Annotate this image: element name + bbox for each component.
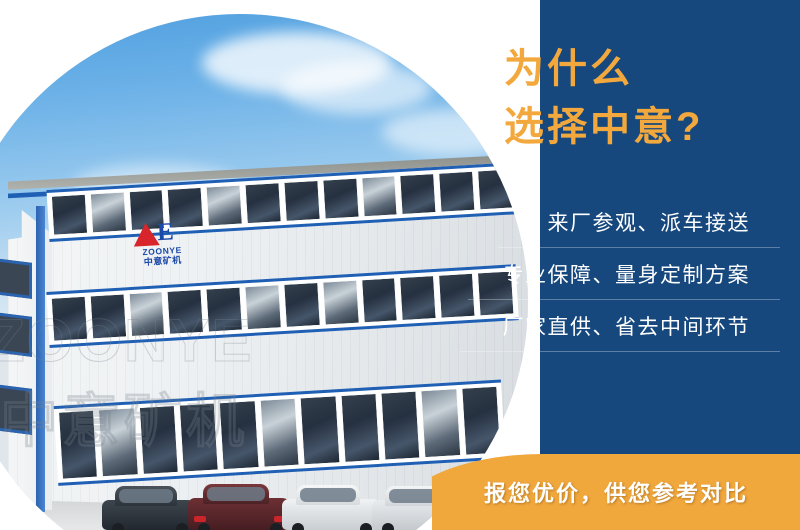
- headline-line-2: 选择中意?: [504, 98, 784, 156]
- building-corner-edge: [36, 206, 45, 512]
- parked-car: [188, 498, 292, 530]
- headline-line-1: 为什么: [504, 47, 633, 91]
- gable-window: [0, 311, 32, 357]
- ribbon-text: 报您优价，供您参考对比: [432, 476, 800, 508]
- letter-e-icon: E: [156, 219, 173, 245]
- feature-list: 来厂参观、派车接送 专业保障、量身定制方案 厂家直供、省去中间环节: [460, 196, 780, 352]
- logo-mark: E: [118, 218, 203, 249]
- cloud: [282, 62, 432, 114]
- price-ribbon: 报您优价，供您参考对比: [432, 448, 800, 530]
- promo-banner: E ZOONYE 中意矿机: [0, 0, 800, 530]
- list-item: 厂家直供、省去中间环节: [460, 300, 780, 352]
- page-title: 为什么 选择中意?: [504, 40, 784, 156]
- parked-car: [102, 500, 198, 530]
- gable-window: [0, 257, 32, 299]
- feature-text: 厂家直供、省去中间环节: [503, 311, 751, 341]
- company-logo: E ZOONYE 中意矿机: [118, 218, 205, 279]
- feature-text: 来厂参观、派车接送: [548, 207, 751, 237]
- feature-text: 专业保障、量身定制方案: [503, 259, 751, 289]
- gable-window: [0, 383, 32, 435]
- parked-car: [282, 499, 382, 530]
- list-item: 来厂参观、派车接送: [460, 196, 780, 248]
- list-item: 专业保障、量身定制方案: [460, 248, 780, 300]
